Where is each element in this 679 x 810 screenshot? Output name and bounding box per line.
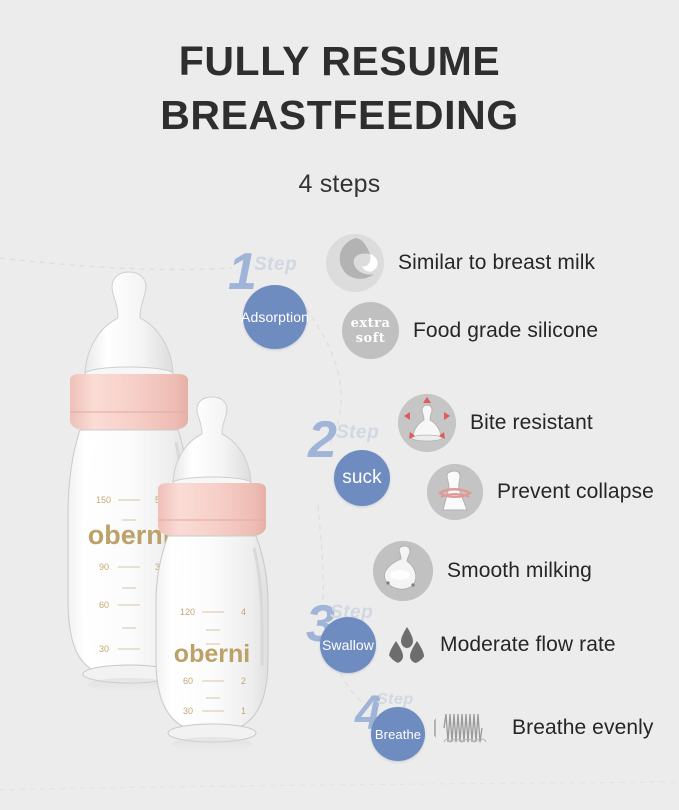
feature-prevent-collapse: Prevent collapse bbox=[427, 464, 654, 520]
feature-moderate-flow-rate: Moderate flow rate bbox=[386, 625, 616, 665]
feature-label-moderate-flow-rate: Moderate flow rate bbox=[440, 633, 616, 657]
page-title-line-1: FULLY RESUME bbox=[0, 34, 679, 88]
extra-soft-line-2: soft bbox=[351, 331, 391, 346]
feature-label-breathe-evenly: Breathe evenly bbox=[512, 716, 654, 740]
svg-text:2: 2 bbox=[241, 676, 246, 686]
breast-milk-swirl-icon bbox=[326, 234, 384, 292]
step-badge-suck[interactable]: suck bbox=[334, 450, 390, 506]
svg-text:1: 1 bbox=[241, 706, 246, 716]
svg-text:4: 4 bbox=[241, 607, 246, 617]
svg-text:30: 30 bbox=[99, 644, 109, 654]
svg-text:30: 30 bbox=[183, 706, 193, 716]
step-badge-swallow[interactable]: Swallow bbox=[320, 617, 376, 673]
feature-label-food-grade-silicone: Food grade silicone bbox=[413, 319, 598, 343]
page-title-line-2: BREASTFEEDING bbox=[0, 88, 679, 142]
step-number-1: 1 bbox=[228, 246, 257, 298]
feature-label-similar-to-breast-milk: Similar to breast milk bbox=[398, 251, 595, 275]
water-drops-icon bbox=[386, 625, 428, 665]
feature-smooth-milking: Smooth milking bbox=[373, 541, 592, 601]
page-subtitle: 4 steps bbox=[0, 170, 679, 199]
step-number-2: 2 bbox=[308, 414, 337, 466]
extra-soft-icon-text: extra soft bbox=[351, 316, 391, 346]
extra-soft-icon: extra soft bbox=[342, 302, 399, 359]
product-bottles-image: oberni 150 5 90 3 60 2 30 1 bbox=[0, 270, 330, 800]
prevent-collapse-nipple-icon bbox=[427, 464, 483, 520]
smooth-milking-nipple-icon bbox=[373, 541, 433, 601]
svg-text:90: 90 bbox=[99, 562, 109, 572]
bottle-brand-large: oberni bbox=[88, 520, 171, 550]
breathing-waveform-icon bbox=[432, 706, 504, 750]
feature-label-bite-resistant: Bite resistant bbox=[470, 411, 593, 435]
step-word-1: Step bbox=[254, 255, 297, 274]
step-word-2: Step bbox=[336, 423, 379, 442]
header: FULLY RESUME BREASTFEEDING 4 steps bbox=[0, 34, 679, 199]
bite-resistant-nipple-icon bbox=[398, 394, 456, 452]
feature-bite-resistant: Bite resistant bbox=[398, 394, 593, 452]
step-badge-adsorption[interactable]: Adsorption bbox=[243, 285, 307, 349]
step-badge-breathe[interactable]: Breathe bbox=[371, 707, 425, 761]
svg-text:60: 60 bbox=[99, 600, 109, 610]
feature-similar-to-breast-milk: Similar to breast milk bbox=[326, 234, 595, 292]
feature-breathe-evenly: Breathe evenly bbox=[432, 706, 654, 750]
svg-text:60: 60 bbox=[183, 676, 193, 686]
extra-soft-line-1: extra bbox=[351, 316, 391, 331]
feature-label-smooth-milking: Smooth milking bbox=[447, 559, 592, 583]
svg-text:120: 120 bbox=[180, 607, 195, 617]
svg-text:150: 150 bbox=[96, 495, 111, 505]
infographic-canvas: FULLY RESUME BREASTFEEDING 4 steps bbox=[0, 0, 679, 810]
feature-food-grade-silicone: extra soft Food grade silicone bbox=[342, 302, 598, 359]
feature-label-prevent-collapse: Prevent collapse bbox=[497, 480, 654, 504]
